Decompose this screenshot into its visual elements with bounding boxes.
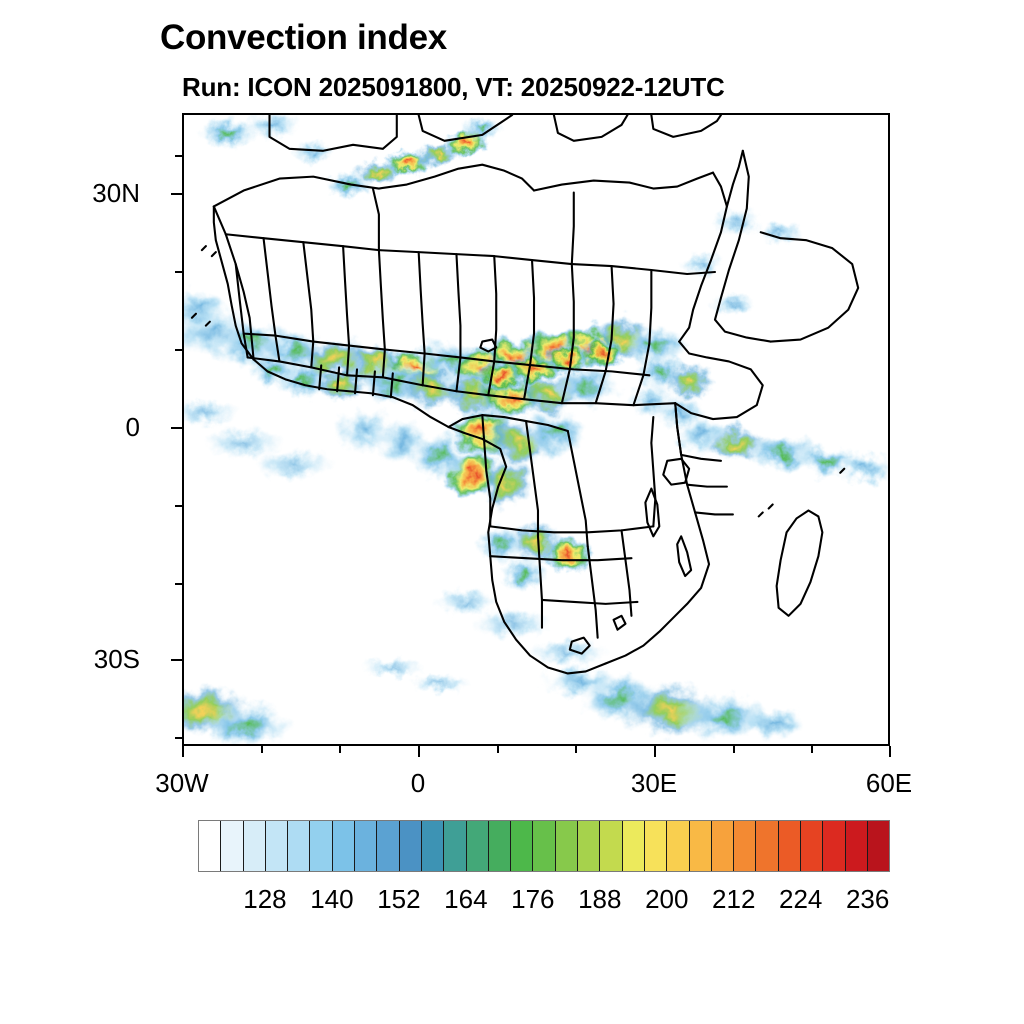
colorbar-cell-11 bbox=[444, 821, 466, 871]
colorbar[interactable] bbox=[198, 820, 890, 872]
colorbar-cell-0 bbox=[199, 821, 221, 871]
ytick-0 bbox=[171, 427, 182, 429]
ytick-minor-3 bbox=[175, 349, 182, 351]
colorbar-cell-17 bbox=[578, 821, 600, 871]
colorbar-cell-5 bbox=[310, 821, 332, 871]
colorbar-cell-24 bbox=[734, 821, 756, 871]
xtick-minor-4 bbox=[575, 746, 577, 753]
colorbar-cell-2 bbox=[244, 821, 266, 871]
colorbar-cell-13 bbox=[489, 821, 511, 871]
colorbar-cell-15 bbox=[533, 821, 555, 871]
ytick-minor-1 bbox=[175, 155, 182, 157]
colorbar-cell-21 bbox=[667, 821, 689, 871]
ytick-label-30s: 30S bbox=[20, 644, 140, 675]
ytick-minor-5 bbox=[175, 583, 182, 585]
xtick-minor-2 bbox=[339, 746, 341, 753]
xtick-minor-5 bbox=[733, 746, 735, 753]
map-plot-area[interactable] bbox=[182, 113, 890, 746]
colorbar-cell-26 bbox=[779, 821, 801, 871]
xtick-minor-3 bbox=[497, 746, 499, 753]
ytick-minor-2 bbox=[175, 271, 182, 273]
ytick-label-0: 0 bbox=[20, 412, 140, 443]
colorbar-cell-6 bbox=[333, 821, 355, 871]
xtick-0 bbox=[418, 746, 420, 757]
colorbar-cell-1 bbox=[221, 821, 243, 871]
xtick-minor-6 bbox=[811, 746, 813, 753]
colorbar-cell-7 bbox=[355, 821, 377, 871]
colorbar-cell-27 bbox=[801, 821, 823, 871]
ytick-label-30n: 30N bbox=[20, 178, 140, 209]
colorbar-cell-30 bbox=[868, 821, 889, 871]
xtick-label-60e: 60E bbox=[819, 768, 959, 799]
colorbar-cell-10 bbox=[422, 821, 444, 871]
convection-index-map bbox=[184, 115, 888, 744]
ytick-minor-4 bbox=[175, 505, 182, 507]
colorbar-cell-25 bbox=[756, 821, 778, 871]
xtick-30w bbox=[182, 746, 184, 757]
ytick-30n bbox=[171, 193, 182, 195]
page-title: Convection index bbox=[160, 18, 447, 58]
colorbar-cell-8 bbox=[377, 821, 399, 871]
xtick-label-0: 0 bbox=[348, 768, 488, 799]
colorbar-cell-20 bbox=[645, 821, 667, 871]
colorbar-cell-3 bbox=[266, 821, 288, 871]
run-info-subtitle: Run: ICON 2025091800, VT: 20250922-12UTC bbox=[182, 72, 725, 103]
colorbar-cell-18 bbox=[600, 821, 622, 871]
colorbar-cell-19 bbox=[623, 821, 645, 871]
colorbar-cell-28 bbox=[823, 821, 845, 871]
colorbar-cell-29 bbox=[846, 821, 868, 871]
colorbar-cell-4 bbox=[288, 821, 310, 871]
ytick-minor-6 bbox=[175, 737, 182, 739]
colorbar-cell-9 bbox=[400, 821, 422, 871]
colorbar-cell-22 bbox=[690, 821, 712, 871]
colorbar-cell-16 bbox=[556, 821, 578, 871]
colorbar-cell-12 bbox=[467, 821, 489, 871]
xtick-label-30e: 30E bbox=[584, 768, 724, 799]
colorbar-cell-23 bbox=[712, 821, 734, 871]
xtick-minor-1 bbox=[261, 746, 263, 753]
xtick-60e bbox=[889, 746, 891, 757]
xtick-label-30w: 30W bbox=[112, 768, 252, 799]
colorbar-cell-14 bbox=[511, 821, 533, 871]
xtick-30e bbox=[654, 746, 656, 757]
colorbar-tick-label-236: 236 bbox=[823, 884, 913, 915]
ytick-30s bbox=[171, 659, 182, 661]
